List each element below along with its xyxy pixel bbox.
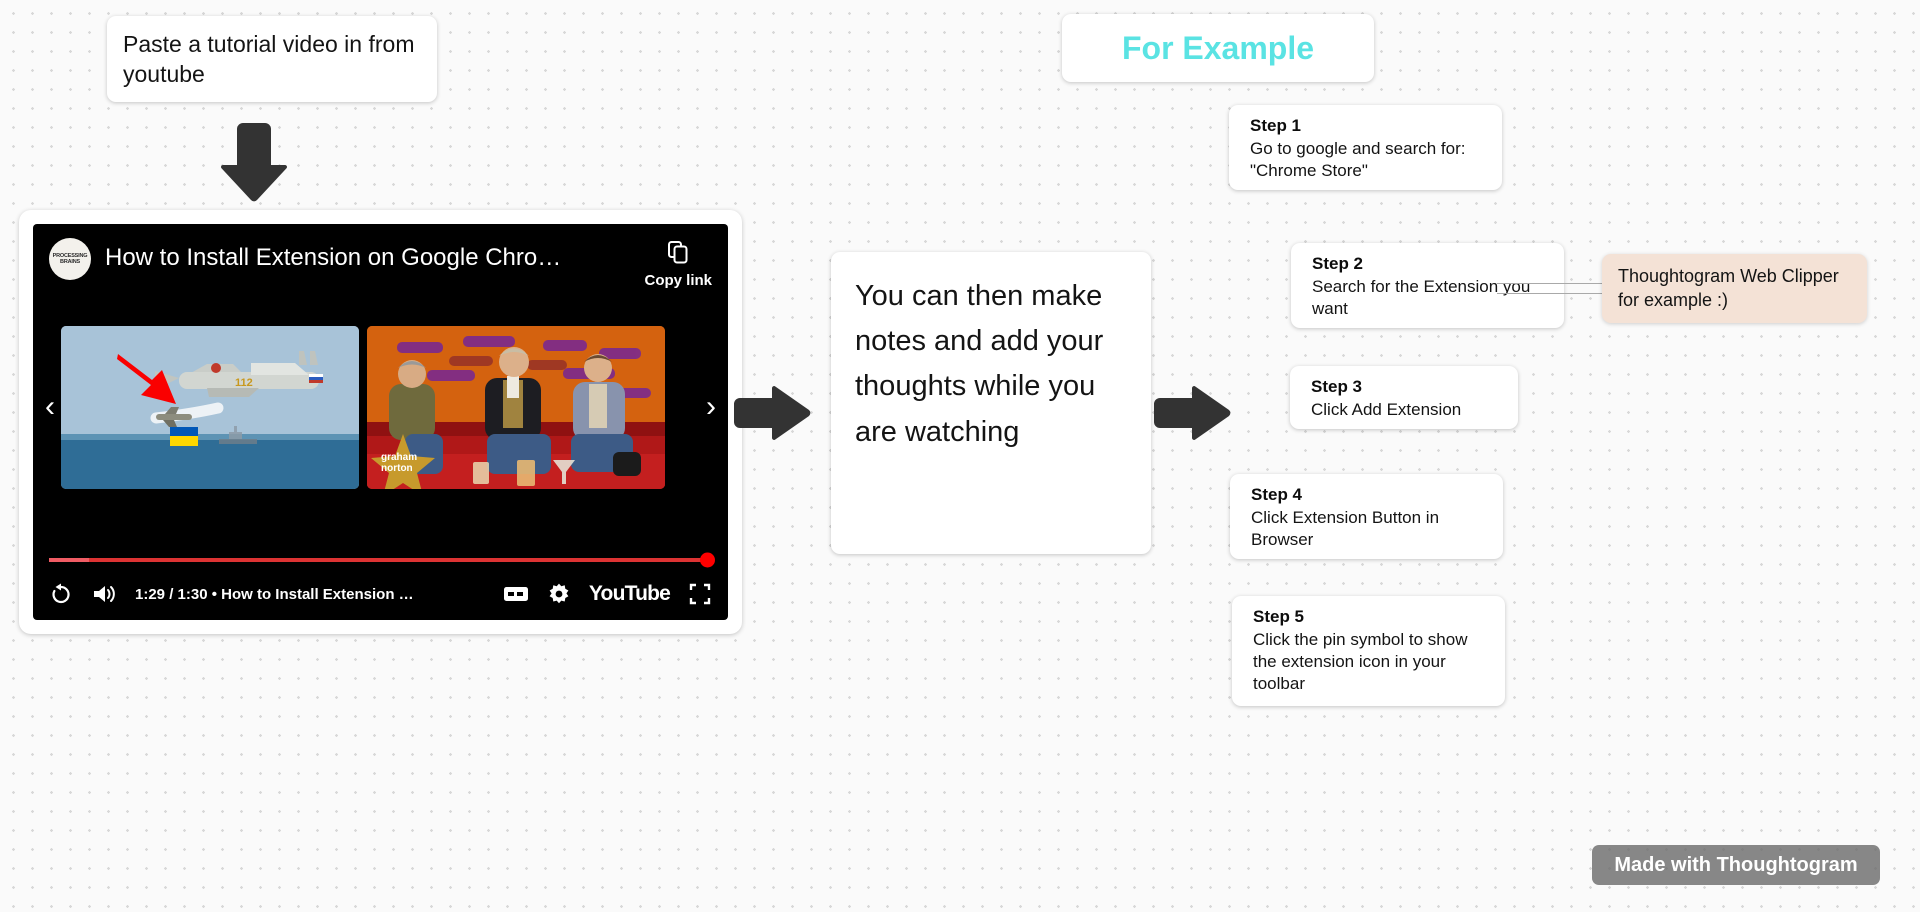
step-1-title: Step 1 [1250, 116, 1484, 136]
progress-knob[interactable] [700, 553, 715, 568]
thumbnail-talkshow[interactable]: graham norton [367, 326, 665, 489]
fullscreen-icon[interactable] [688, 582, 712, 606]
note-for-example[interactable]: For Example [1062, 14, 1374, 82]
closed-captions-icon[interactable] [503, 584, 529, 604]
step-4-body: Click Extension Button in Browser [1251, 507, 1485, 551]
note-step-4[interactable]: Step 4 Click Extension Button in Browser [1230, 474, 1503, 559]
copy-link-button[interactable]: Copy link [644, 238, 712, 289]
player-time-label: 1:29 / 1:30 • How to Install Extension … [135, 586, 414, 603]
carousel-prev-button[interactable]: ‹ [45, 392, 55, 422]
note-web-clipper-text: Thoughtogram Web Clipper for example :) [1618, 265, 1851, 313]
note-step-3[interactable]: Step 3 Click Add Extension [1290, 366, 1518, 429]
step-3-body: Click Add Extension [1311, 399, 1500, 421]
step-3-title: Step 3 [1311, 377, 1500, 397]
arrow-right-icon [732, 382, 812, 444]
connector-step2-to-clipper [1497, 276, 1605, 302]
replay-icon[interactable] [49, 582, 73, 606]
connector-line-top [1497, 283, 1605, 284]
note-make-notes-text: You can then make notes and add your tho… [855, 274, 1127, 455]
step-4-title: Step 4 [1251, 485, 1485, 505]
progress-bar[interactable] [49, 558, 712, 562]
progress-buffered [49, 558, 89, 562]
youtube-player[interactable]: PROCESSING BRAINS How to Install Extensi… [33, 224, 728, 620]
copy-link-label: Copy link [644, 272, 712, 289]
youtube-embed-card[interactable]: PROCESSING BRAINS How to Install Extensi… [19, 210, 742, 634]
video-title[interactable]: How to Install Extension on Google Chrom… [105, 238, 575, 273]
connector-line-bottom [1497, 293, 1605, 294]
youtube-header: PROCESSING BRAINS How to Install Extensi… [33, 224, 728, 292]
svg-text:norton: norton [381, 463, 413, 474]
for-example-label: For Example [1122, 30, 1314, 67]
step-1-body: Go to google and search for: "Chrome Sto… [1250, 138, 1484, 182]
note-paste-tutorial[interactable]: Paste a tutorial video in from youtube [107, 16, 437, 102]
step-2-title: Step 2 [1312, 254, 1546, 274]
step-5-body: Click the pin symbol to show the extensi… [1253, 629, 1487, 695]
svg-text:graham: graham [381, 452, 417, 463]
volume-icon[interactable] [91, 582, 117, 606]
carousel-next-button[interactable]: › [706, 392, 716, 422]
arrow-right-icon [1152, 382, 1232, 444]
made-with-thoughtogram-badge[interactable]: Made with Thoughtogram [1592, 845, 1880, 885]
youtube-logo[interactable]: YouTube [589, 582, 670, 606]
copy-icon [666, 240, 690, 264]
thumbnail-carousel[interactable]: ‹ [33, 302, 728, 512]
thumbnail-aircraft[interactable]: 112 [61, 326, 359, 489]
channel-avatar[interactable]: PROCESSING BRAINS [49, 238, 91, 280]
player-controls[interactable]: 1:29 / 1:30 • How to Install Extension … [33, 558, 728, 620]
note-paste-tutorial-text: Paste a tutorial video in from youtube [123, 29, 421, 90]
gear-icon[interactable] [547, 582, 571, 606]
note-step-5[interactable]: Step 5 Click the pin symbol to show the … [1232, 596, 1505, 706]
step-5-title: Step 5 [1253, 607, 1487, 627]
note-step-1[interactable]: Step 1 Go to google and search for: "Chr… [1229, 105, 1502, 190]
note-make-notes[interactable]: You can then make notes and add your tho… [831, 252, 1151, 554]
svg-text:112: 112 [235, 377, 253, 389]
arrow-down-icon [215, 121, 293, 203]
channel-avatar-label: PROCESSING BRAINS [49, 253, 91, 265]
whiteboard-canvas[interactable]: Paste a tutorial video in from youtube P… [0, 0, 1920, 912]
made-with-label: Made with Thoughtogram [1614, 854, 1857, 877]
note-web-clipper[interactable]: Thoughtogram Web Clipper for example :) [1602, 254, 1867, 323]
